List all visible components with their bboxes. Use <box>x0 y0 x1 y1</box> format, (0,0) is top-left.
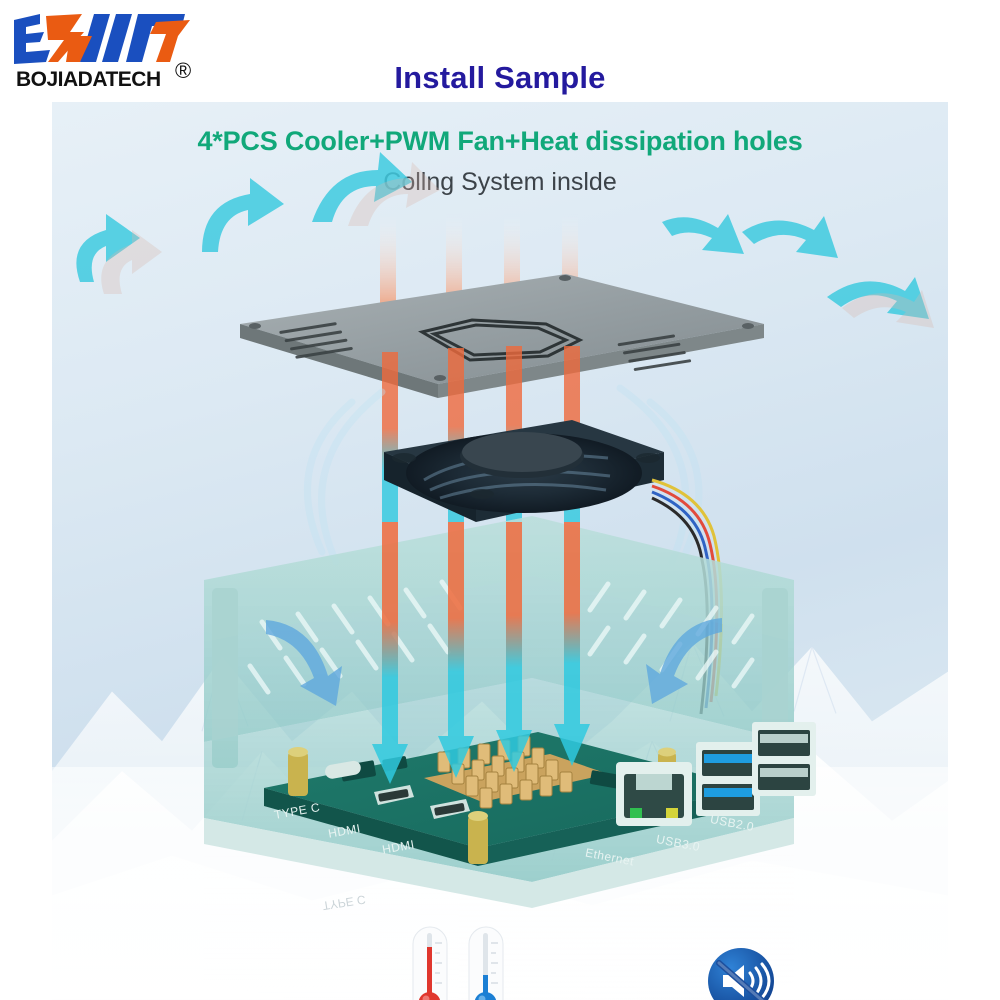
page-title: Install Sample <box>0 60 1000 96</box>
pwm-cooling-fan <box>384 420 664 522</box>
product-exploded-view: TYPE C <box>52 102 948 1000</box>
muted-speaker-icon <box>707 947 775 1000</box>
thermometer-icon <box>407 925 517 1000</box>
product-marketing-page: BOJIADATECH ® Install Sample <box>0 0 1000 1000</box>
top-plate <box>240 274 764 398</box>
scene-panel: 4*PCS Cooler+PWM Fan+Heat dissipation ho… <box>52 102 948 1000</box>
